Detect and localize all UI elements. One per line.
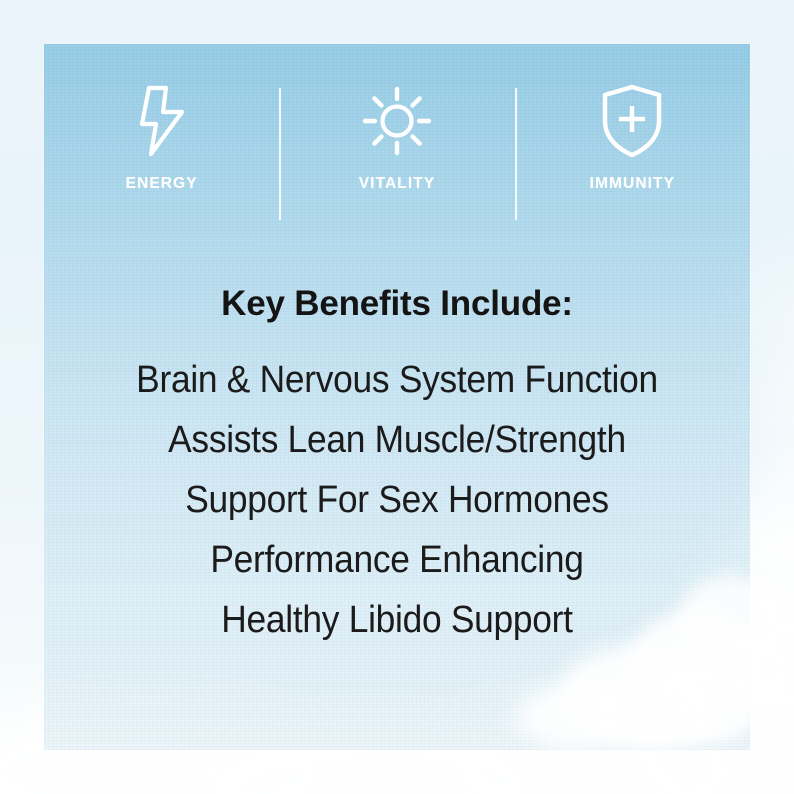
feature-column-vitality: VITALITY xyxy=(279,82,514,230)
feature-column-energy: ENERGY xyxy=(44,82,279,230)
shield-plus-icon xyxy=(599,82,665,160)
benefits-list: Brain & Nervous System Function Assists … xyxy=(44,350,750,650)
list-item: Assists Lean Muscle/Strength xyxy=(69,410,726,470)
list-item: Healthy Libido Support xyxy=(69,590,726,650)
lightning-bolt-icon xyxy=(133,82,191,160)
feature-label: IMMUNITY xyxy=(590,176,675,192)
list-item: Brain & Nervous System Function xyxy=(69,350,726,410)
feature-column-immunity: IMMUNITY xyxy=(515,82,750,230)
list-item: Support For Sex Hormones xyxy=(69,470,726,530)
benefits-infographic: ENERGY VITALIT xyxy=(0,0,794,794)
page-title: Key Benefits Include: xyxy=(44,286,750,321)
list-item: Performance Enhancing xyxy=(69,530,726,590)
feature-icon-row: ENERGY VITALIT xyxy=(44,82,750,230)
feature-label: VITALITY xyxy=(359,176,436,192)
sun-icon xyxy=(361,82,433,160)
feature-label: ENERGY xyxy=(126,176,198,192)
